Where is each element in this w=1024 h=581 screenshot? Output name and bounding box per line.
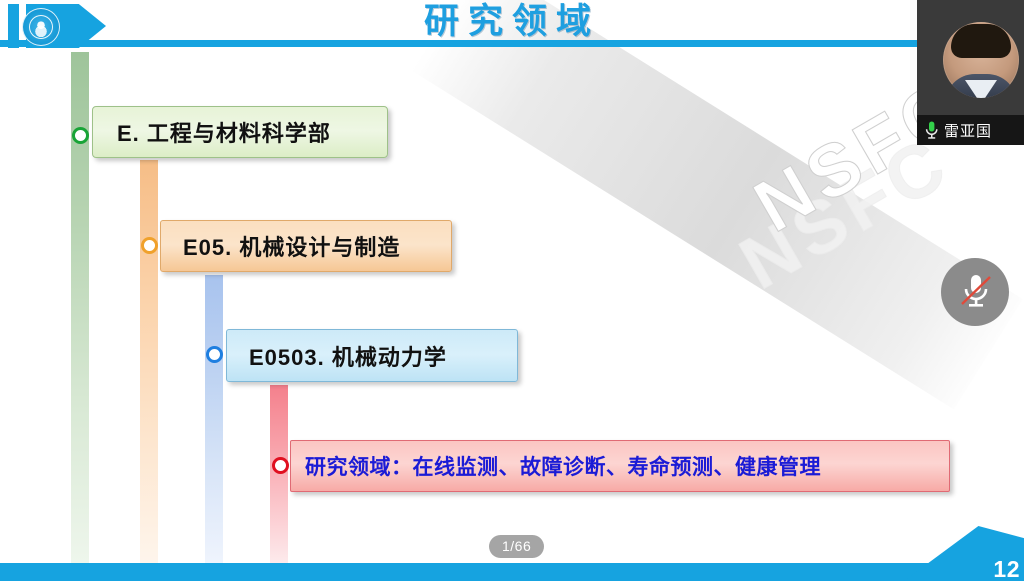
page-title: 研究领域 — [0, 0, 1024, 44]
flow-node-level3-label: E0503. 机械动力学 — [249, 340, 447, 372]
flow-node-level4-label: 研究领域：在线监测、故障诊断、寿命预测、健康管理 — [305, 451, 821, 481]
connector-bar-level4 — [270, 385, 288, 563]
microphone-icon — [925, 121, 938, 140]
participant-name: 雷亚国 — [944, 120, 992, 141]
orange-circle-marker — [141, 237, 158, 254]
presentation-slide: NSFC NSFC 研究领域 E. 工程与材料科学部 E05. 机械设计与制造 … — [0, 0, 1024, 581]
page-indicator: 1/66 — [489, 535, 544, 558]
avatar-hair — [951, 24, 1011, 58]
green-circle-marker — [72, 127, 89, 144]
avatar — [943, 22, 1019, 98]
footer-bar — [0, 563, 1024, 581]
microphone-muted-icon[interactable] — [941, 258, 1009, 326]
video-participant-tile[interactable]: 雷亚国 — [917, 0, 1024, 145]
red-circle-marker — [272, 457, 289, 474]
flow-node-level1: E. 工程与材料科学部 — [92, 106, 388, 158]
participant-name-bar: 雷亚国 — [917, 115, 1024, 145]
flow-node-level3: E0503. 机械动力学 — [226, 329, 518, 382]
blue-circle-marker — [206, 346, 223, 363]
connector-bar-level2 — [140, 160, 158, 563]
nsfc-watermark-ghost-text: NSFC — [726, 119, 964, 305]
flow-node-level1-label: E. 工程与材料科学部 — [117, 116, 331, 148]
flow-node-level4: 研究领域：在线监测、故障诊断、寿命预测、健康管理 — [290, 440, 950, 492]
footer-wedge: 12 — [904, 526, 1024, 581]
slide-number: 12 — [993, 556, 1020, 581]
connector-bar-level3 — [205, 275, 223, 563]
flow-node-level2-label: E05. 机械设计与制造 — [183, 230, 400, 262]
flow-node-level2: E05. 机械设计与制造 — [160, 220, 452, 272]
